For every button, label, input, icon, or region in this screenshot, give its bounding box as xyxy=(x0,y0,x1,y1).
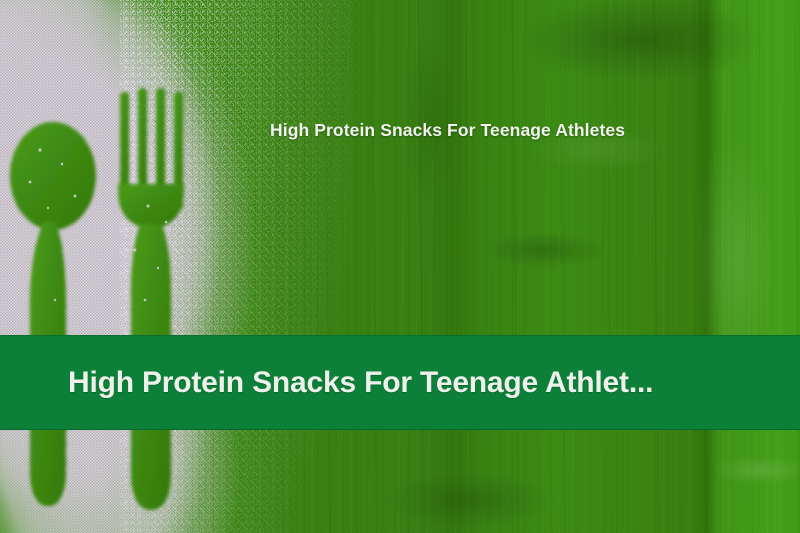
fork-silhouette xyxy=(118,88,184,510)
banner-title-text: High Protein Snacks For Teenage Athlet..… xyxy=(68,366,653,400)
title-banner: High Protein Snacks For Teenage Athlet..… xyxy=(0,335,800,430)
spoon-silhouette xyxy=(10,122,96,506)
cutlery-silhouettes xyxy=(0,0,800,533)
hero-overlay-title: High Protein Snacks For Teenage Athletes xyxy=(270,120,625,141)
hero-image-card: High Protein Snacks For Teenage Athletes… xyxy=(0,0,800,533)
